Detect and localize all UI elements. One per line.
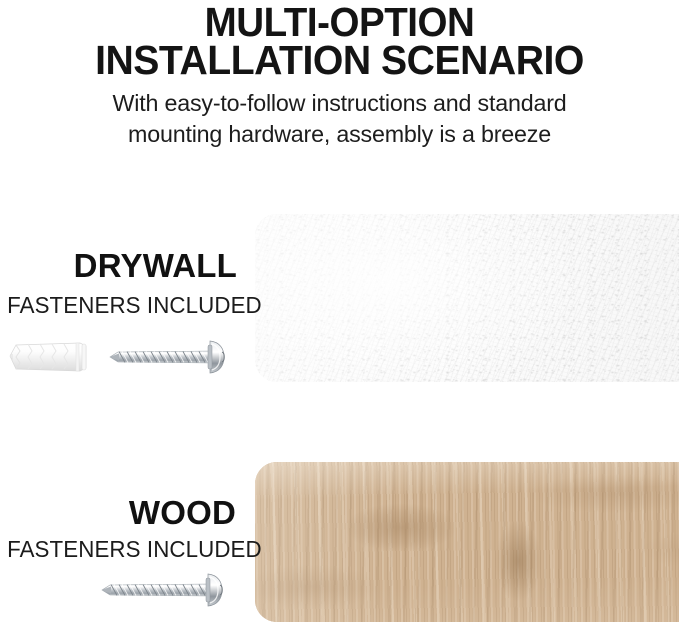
wood-hardware-group bbox=[96, 568, 251, 612]
drywall-anchor-icon bbox=[10, 343, 86, 371]
wood-screw-icon bbox=[110, 341, 224, 373]
drywall-texture-panel bbox=[255, 214, 679, 382]
wood-subheading: FASTENERS INCLUDED bbox=[7, 538, 236, 561]
drywall-highlight-layer bbox=[255, 214, 679, 382]
drywall-hardware-group bbox=[6, 332, 254, 382]
wood-screw-icon bbox=[102, 574, 222, 606]
wood-heading: WOOD bbox=[0, 496, 236, 529]
wood-grain-panel bbox=[255, 462, 679, 622]
page-subtitle-line-2: mounting hardware, assembly is a breeze bbox=[3, 119, 675, 150]
page-title-line-2: INSTALLATION SCENARIO bbox=[15, 40, 663, 81]
drywall-subheading: FASTENERS INCLUDED bbox=[7, 294, 237, 317]
page-subtitle-line-1: With easy-to-follow instructions and sta… bbox=[3, 88, 675, 119]
page-subtitle: With easy-to-follow instructions and sta… bbox=[3, 88, 675, 151]
wood-hardware-illustration bbox=[96, 568, 251, 612]
header-block: MULTI-OPTION INSTALLATION SCENARIO With … bbox=[0, 0, 679, 160]
promo-graphic-root: MULTI-OPTION INSTALLATION SCENARIO With … bbox=[0, 0, 679, 627]
wood-highlight-layer bbox=[255, 462, 679, 622]
drywall-heading: DRYWALL bbox=[0, 249, 237, 282]
drywall-hardware-illustration bbox=[6, 332, 254, 382]
